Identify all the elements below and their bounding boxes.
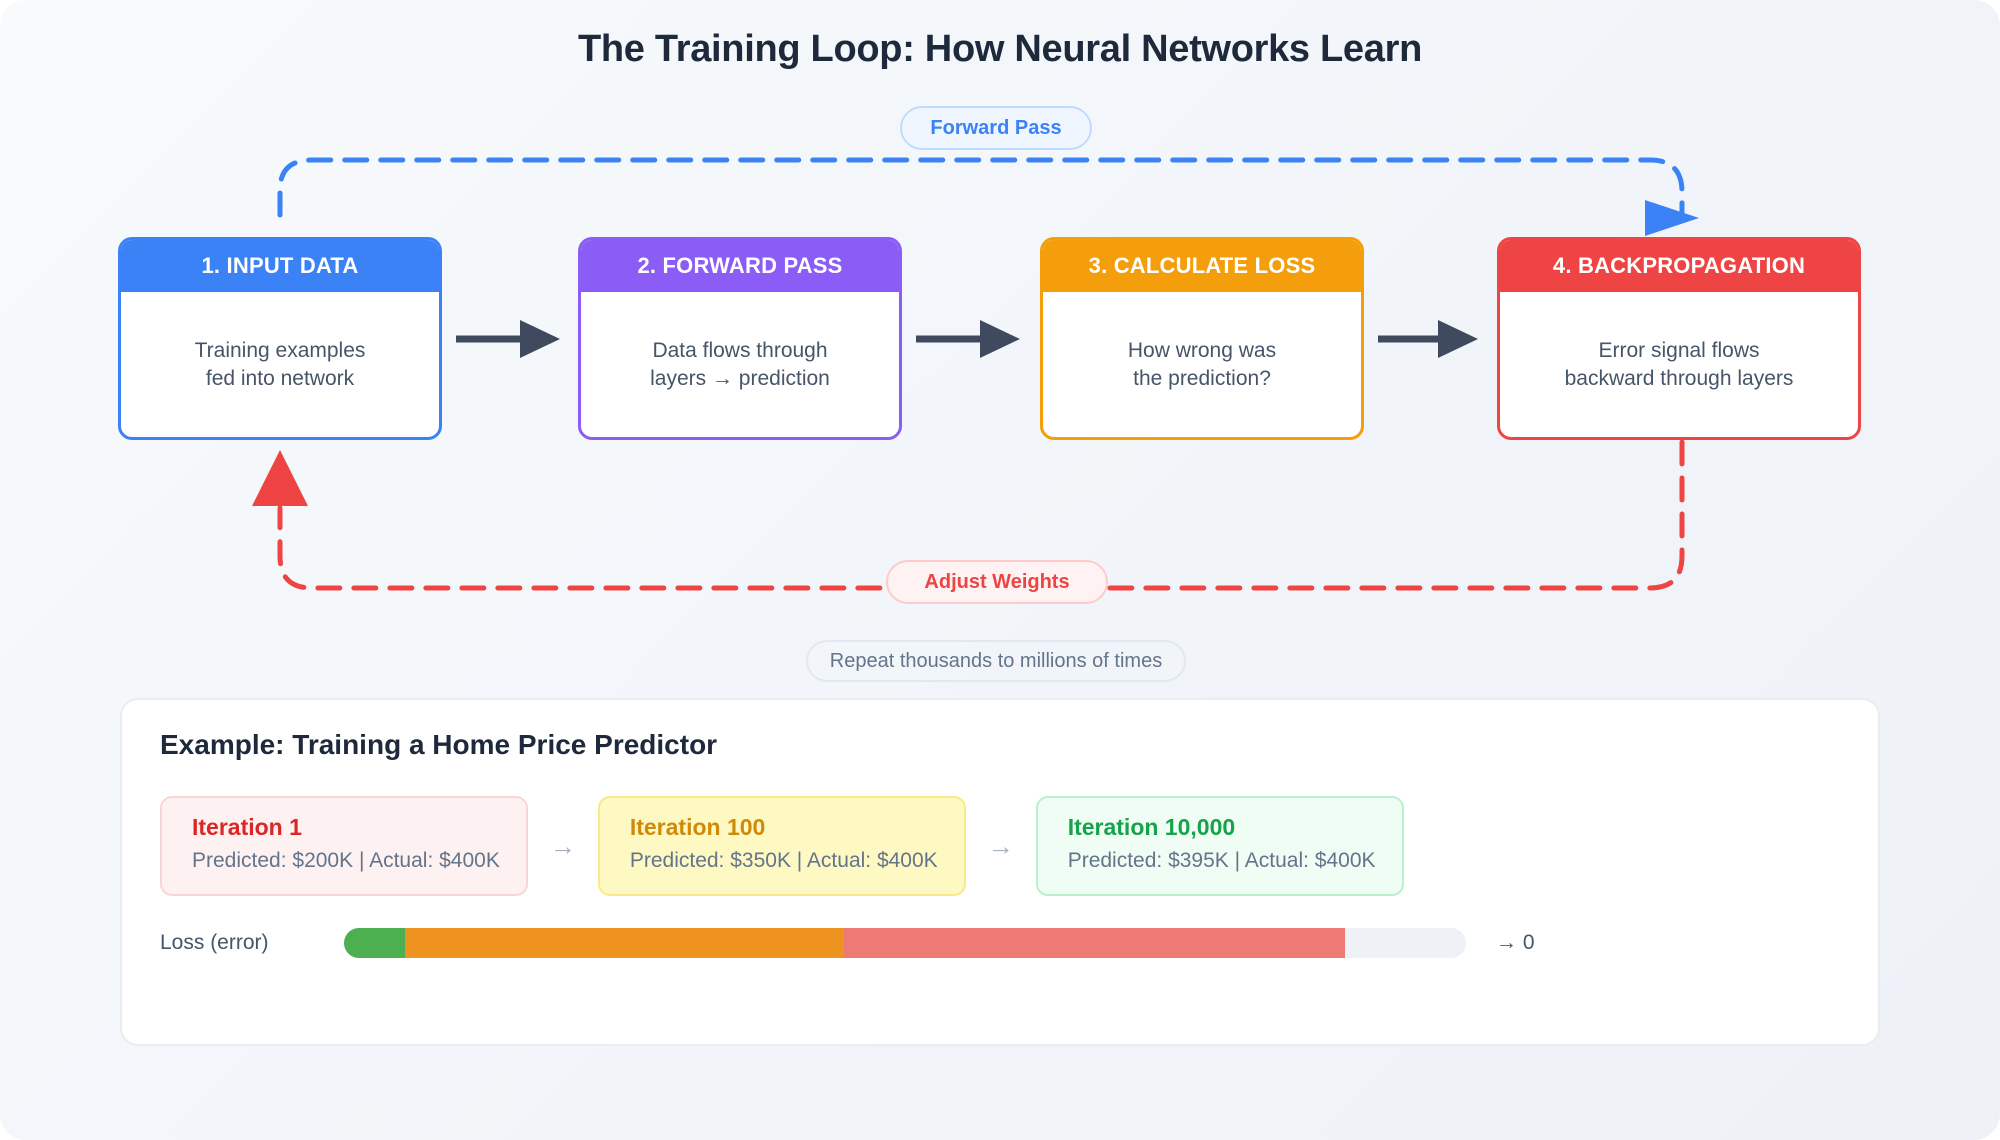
iteration-card-100[interactable]: Iteration 100 Predicted: $350K | Actual:… — [598, 796, 966, 896]
stage-connector-2-3 — [916, 320, 1020, 358]
stage-box-backpropagation[interactable]: 4. BACKPROPAGATION Error signal flows ba… — [1497, 237, 1861, 440]
loss-label: Loss (error) — [160, 931, 344, 955]
loss-segment-converged — [344, 928, 405, 958]
stage-body-line2: layers → prediction — [650, 365, 830, 393]
iteration-step-arrow-icon: → — [988, 831, 1014, 862]
stage-body-input-data: Training examples fed into network — [121, 292, 439, 437]
iteration-label: Iteration 10,000 — [1068, 814, 1376, 841]
stage-connector-3-4 — [1378, 320, 1478, 358]
stage-body-line1: Data flows through — [652, 337, 827, 365]
stage-box-input-data[interactable]: 1. INPUT DATA Training examples fed into… — [118, 237, 442, 440]
loss-row: Loss (error) → 0 — [160, 928, 1535, 958]
stage-body-forward-pass: Data flows through layers → prediction — [581, 292, 899, 437]
stage-header-input-data: 1. INPUT DATA — [121, 240, 439, 292]
iteration-card-10000[interactable]: Iteration 10,000 Predicted: $395K | Actu… — [1036, 796, 1404, 896]
iteration-row: Iteration 1 Predicted: $200K | Actual: $… — [160, 796, 1404, 896]
stage-body-line2: backward through layers — [1565, 365, 1794, 393]
forward-pass-arrowhead — [1645, 200, 1699, 236]
stage-body-backpropagation: Error signal flows backward through laye… — [1500, 292, 1858, 437]
stage-body-line2: fed into network — [206, 365, 354, 393]
stage-body-line1: Error signal flows — [1598, 337, 1759, 365]
iteration-step-arrow-icon: → — [550, 831, 576, 862]
diagram-canvas: The Training Loop: How Neural Networks L… — [0, 0, 2000, 1140]
loss-segment-improving — [405, 928, 845, 958]
iteration-label: Iteration 100 — [630, 814, 938, 841]
loss-progress-bar — [344, 928, 1466, 958]
stage-body-line1: How wrong was — [1128, 337, 1276, 365]
stage-body-calculate-loss: How wrong was the prediction? — [1043, 292, 1361, 437]
forward-pass-badge: Forward Pass — [900, 106, 1092, 150]
forward-pass-loop-path — [280, 160, 1682, 215]
page-title: The Training Loop: How Neural Networks L… — [0, 28, 2000, 71]
example-title: Example: Training a Home Price Predictor — [160, 729, 717, 761]
stage-body-line1: Training examples — [195, 337, 366, 365]
adjust-weights-badge: Adjust Weights — [886, 560, 1108, 604]
iteration-label: Iteration 1 — [192, 814, 500, 841]
iteration-detail: Predicted: $200K | Actual: $400K — [192, 849, 500, 873]
stage-box-calculate-loss[interactable]: 3. CALCULATE LOSS How wrong was the pred… — [1040, 237, 1364, 440]
iteration-card-1[interactable]: Iteration 1 Predicted: $200K | Actual: $… — [160, 796, 528, 896]
repeat-note: Repeat thousands to millions of times — [806, 640, 1186, 682]
loss-segment-high-error — [844, 928, 1344, 958]
loss-target-value: → 0 — [1496, 931, 1535, 955]
stage-connector-1-2 — [456, 320, 560, 358]
stage-box-forward-pass[interactable]: 2. FORWARD PASS Data flows through layer… — [578, 237, 902, 440]
stage-body-line2: the prediction? — [1133, 365, 1271, 393]
stage-header-backpropagation: 4. BACKPROPAGATION — [1500, 240, 1858, 292]
iteration-detail: Predicted: $395K | Actual: $400K — [1068, 849, 1376, 873]
iteration-detail: Predicted: $350K | Actual: $400K — [630, 849, 938, 873]
adjust-weights-arrowhead — [252, 450, 308, 506]
stage-header-calculate-loss: 3. CALCULATE LOSS — [1043, 240, 1361, 292]
example-card: Example: Training a Home Price Predictor… — [120, 698, 1880, 1046]
stage-header-forward-pass: 2. FORWARD PASS — [581, 240, 899, 292]
